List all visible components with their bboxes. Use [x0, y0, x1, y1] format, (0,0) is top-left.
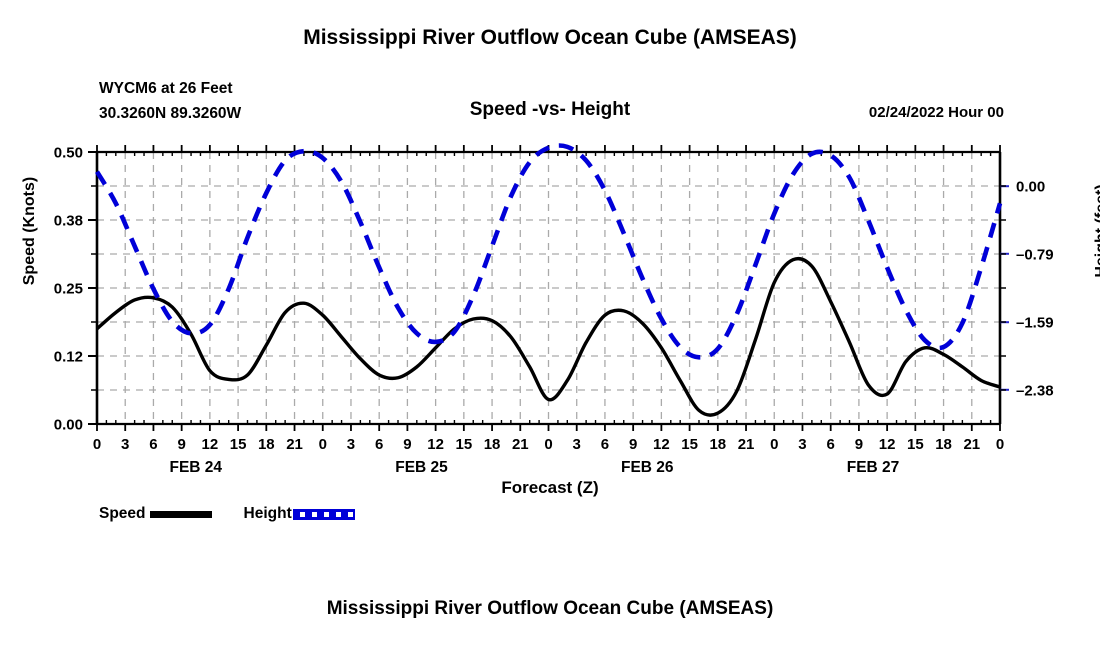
x-tick-label: 15 [456, 436, 473, 453]
chart-plot-area: 0369121518210369121518210369121518210369… [0, 0, 1100, 650]
x-tick-label: 0 [996, 436, 1004, 453]
x-tick-label: 15 [230, 436, 247, 453]
day-label: FEB 25 [395, 459, 448, 476]
day-label: FEB 27 [847, 459, 900, 476]
y-tick-label-left: 0.00 [54, 417, 83, 434]
legend-swatch-speed-line [150, 511, 212, 518]
x-tick-label: 3 [121, 436, 129, 453]
footer-title: Mississippi River Outflow Ocean Cube (AM… [0, 598, 1100, 620]
y-tick-label-left: 0.38 [54, 213, 83, 230]
legend-label-height: Height [244, 505, 292, 523]
x-tick-label: 9 [177, 436, 185, 453]
x-tick-label: 6 [601, 436, 609, 453]
x-tick-label: 0 [93, 436, 101, 453]
x-tick-label: 21 [286, 436, 303, 453]
x-tick-label: 21 [738, 436, 755, 453]
x-tick-label: 9 [403, 436, 411, 453]
y-tick-label-right: –2.38 [1016, 382, 1054, 399]
x-tick-label: 18 [935, 436, 952, 453]
x-tick-label: 9 [629, 436, 637, 453]
y-tick-label-right: –0.79 [1016, 246, 1054, 263]
x-tick-label: 0 [319, 436, 327, 453]
x-tick-label: 9 [855, 436, 863, 453]
y-tick-label-left: 0.50 [54, 145, 83, 162]
x-tick-label: 6 [149, 436, 157, 453]
legend-swatch-height-line [293, 509, 355, 520]
x-tick-label: 12 [653, 436, 670, 453]
x-tick-label: 0 [770, 436, 778, 453]
x-tick-label: 3 [347, 436, 355, 453]
y-tick-label-left: 0.12 [54, 349, 83, 366]
chart-page: Mississippi River Outflow Ocean Cube (AM… [0, 0, 1100, 650]
x-tick-label: 3 [798, 436, 806, 453]
x-tick-label: 15 [907, 436, 924, 453]
day-label: FEB 26 [621, 459, 674, 476]
legend-label-speed: Speed [99, 505, 146, 523]
x-tick-label: 6 [375, 436, 383, 453]
day-label: FEB 24 [169, 459, 222, 476]
x-tick-label: 21 [963, 436, 980, 453]
x-tick-label: 6 [827, 436, 835, 453]
x-tick-label: 0 [544, 436, 552, 453]
x-tick-label: 18 [258, 436, 275, 453]
x-tick-label: 21 [512, 436, 529, 453]
chart-legend: Speed Height [99, 505, 355, 523]
x-tick-label: 12 [202, 436, 219, 453]
x-tick-label: 12 [427, 436, 444, 453]
y-tick-label-left: 0.25 [54, 281, 83, 298]
x-tick-label: 12 [879, 436, 896, 453]
y-tick-label-right: –1.59 [1016, 315, 1054, 332]
x-tick-label: 3 [573, 436, 581, 453]
x-tick-label: 15 [681, 436, 698, 453]
y-tick-label-right: 0.00 [1016, 179, 1045, 196]
x-tick-label: 18 [709, 436, 726, 453]
x-tick-label: 18 [484, 436, 501, 453]
